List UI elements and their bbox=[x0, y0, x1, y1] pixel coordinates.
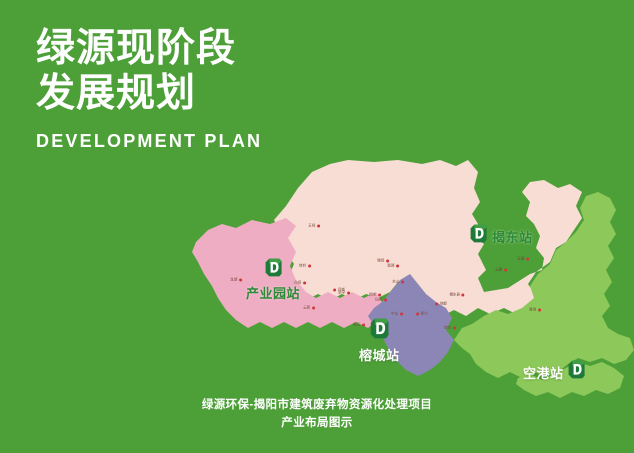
city-dot bbox=[239, 279, 242, 282]
city-label: 中山 bbox=[391, 312, 398, 317]
city-label: 桂岭 bbox=[299, 264, 306, 269]
city-marker: 桂岭 bbox=[299, 264, 311, 269]
title-line-1: 绿源现阶段 bbox=[36, 26, 366, 71]
city-dot bbox=[504, 269, 507, 272]
station-marker-chanyeyuan[interactable]: 产业园站 bbox=[246, 258, 300, 302]
city-dot bbox=[538, 309, 541, 312]
station-label: 产业园站 bbox=[246, 283, 300, 302]
city-dot bbox=[396, 265, 399, 268]
city-dot bbox=[526, 258, 529, 261]
city-label: 云路 bbox=[495, 268, 502, 273]
lvyuan-logo-icon bbox=[470, 224, 487, 248]
city-dot bbox=[312, 307, 315, 310]
title-block: 绿源现阶段 发展规划 DEVELOPMENT PLAN bbox=[36, 26, 366, 152]
station-marker-konggang[interactable]: 空港站 bbox=[523, 360, 585, 384]
station-label: 榕城站 bbox=[359, 345, 400, 364]
city-marker: 炮台 bbox=[444, 326, 456, 331]
city-label: 玉湖 bbox=[517, 257, 524, 262]
city-dot bbox=[435, 303, 438, 306]
city-label: 炮台 bbox=[444, 326, 451, 331]
city-marker: 龙湖 bbox=[230, 278, 242, 283]
city-label: 新兴 bbox=[421, 312, 428, 317]
city-label: 东山 bbox=[392, 280, 399, 285]
city-marker: 五经 bbox=[308, 224, 320, 229]
city-marker: 东山 bbox=[392, 280, 404, 285]
city-label: 仙桥 bbox=[375, 298, 382, 303]
city-label: 地都 bbox=[440, 302, 447, 307]
lvyuan-logo-icon bbox=[265, 258, 282, 282]
station-label: 空港站 bbox=[523, 363, 564, 382]
title-line-2: 发展规划 bbox=[36, 71, 366, 116]
city-marker: 云新 bbox=[303, 306, 315, 311]
station-marker-jiedong[interactable]: 揭东站 bbox=[470, 224, 533, 248]
city-marker: 玉湖 bbox=[517, 257, 529, 262]
city-dot bbox=[303, 282, 306, 285]
city-dot bbox=[378, 294, 381, 297]
station-marker-rongcheng[interactable]: 榕城站 bbox=[359, 318, 400, 364]
city-label: 揭东县 bbox=[449, 293, 460, 298]
city-dot bbox=[416, 313, 419, 316]
city-marker: 地都 bbox=[435, 302, 447, 307]
city-label: 龙湖 bbox=[230, 278, 237, 283]
subtitle: DEVELOPMENT PLAN bbox=[36, 131, 366, 152]
city-marker: 登岗 bbox=[529, 308, 541, 313]
city-marker: 新兴 bbox=[416, 312, 428, 317]
city-dot bbox=[400, 313, 403, 316]
city-marker: 月城 bbox=[333, 288, 345, 293]
lvyuan-logo-icon bbox=[370, 318, 389, 344]
city-marker: 榕东 bbox=[369, 293, 381, 298]
city-dot bbox=[308, 265, 311, 268]
city-dot bbox=[462, 294, 465, 297]
city-label: 登岗 bbox=[529, 308, 536, 313]
city-dot bbox=[333, 289, 336, 292]
city-label: 五经 bbox=[308, 224, 315, 229]
lvyuan-logo-icon bbox=[568, 360, 585, 384]
city-dot bbox=[317, 225, 320, 228]
city-label: 榕东 bbox=[369, 293, 376, 298]
city-marker: 揭东县 bbox=[449, 293, 464, 298]
station-label: 揭东站 bbox=[492, 227, 533, 246]
city-dot bbox=[384, 299, 387, 302]
caption-line-1: 绿源环保-揭阳市建筑废弃物资源化处理项目 bbox=[0, 396, 634, 414]
city-marker: 仙桥 bbox=[375, 298, 387, 303]
city-label: 锡场 bbox=[377, 259, 384, 264]
city-marker: 渔湖 bbox=[387, 264, 399, 269]
city-label: 渔湖 bbox=[387, 264, 394, 269]
city-dot bbox=[453, 327, 456, 330]
city-dot bbox=[347, 292, 350, 295]
city-label: 月城 bbox=[338, 288, 345, 293]
city-dot bbox=[401, 281, 404, 284]
caption-block: 绿源环保-揭阳市建筑废弃物资源化处理项目 产业布局图示 bbox=[0, 396, 634, 432]
city-marker: 中山 bbox=[391, 312, 403, 317]
city-label: 云新 bbox=[303, 306, 310, 311]
caption-line-2: 产业布局图示 bbox=[0, 414, 634, 432]
city-marker: 云路 bbox=[495, 268, 507, 273]
development-plan-poster: 绿源现阶段 发展规划 DEVELOPMENT PLAN 五经 新亨 锡场 玉湖 … bbox=[0, 0, 634, 453]
map-container: 五经 新亨 锡场 玉湖 云路 揭东县 登岗 炮台 龙湖 桂岭 白塔 月城 云新 … bbox=[178, 158, 634, 406]
city-dot bbox=[386, 260, 389, 263]
